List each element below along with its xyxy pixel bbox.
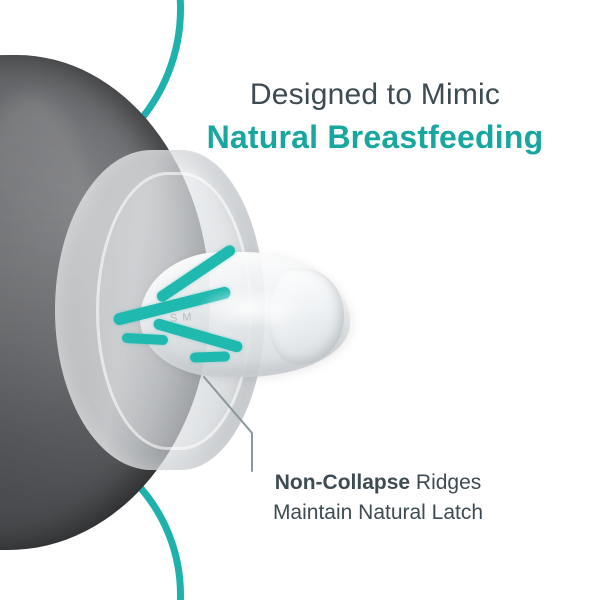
headline-line-1: Designed to Mimic	[160, 78, 590, 113]
highlight-sheen	[196, 286, 306, 330]
headline-line-2: Natural Breastfeeding	[160, 117, 590, 157]
product-infographic: S M Designed to Mimic Natural Breastfeed…	[0, 0, 600, 600]
headline-block: Designed to Mimic Natural Breastfeeding	[160, 78, 590, 157]
caption-line-1: Non-Collapse Ridges	[178, 468, 578, 498]
caption-line-2: Maintain Natural Latch	[178, 498, 578, 528]
caption-line-1-rest: Ridges	[410, 471, 481, 494]
caption-block: Non-Collapse Ridges Maintain Natural Lat…	[178, 468, 578, 529]
embossed-size-mark: S M	[170, 311, 193, 325]
teal-ridge-bottom	[190, 351, 230, 362]
caption-emphasis: Non-Collapse	[275, 471, 410, 494]
